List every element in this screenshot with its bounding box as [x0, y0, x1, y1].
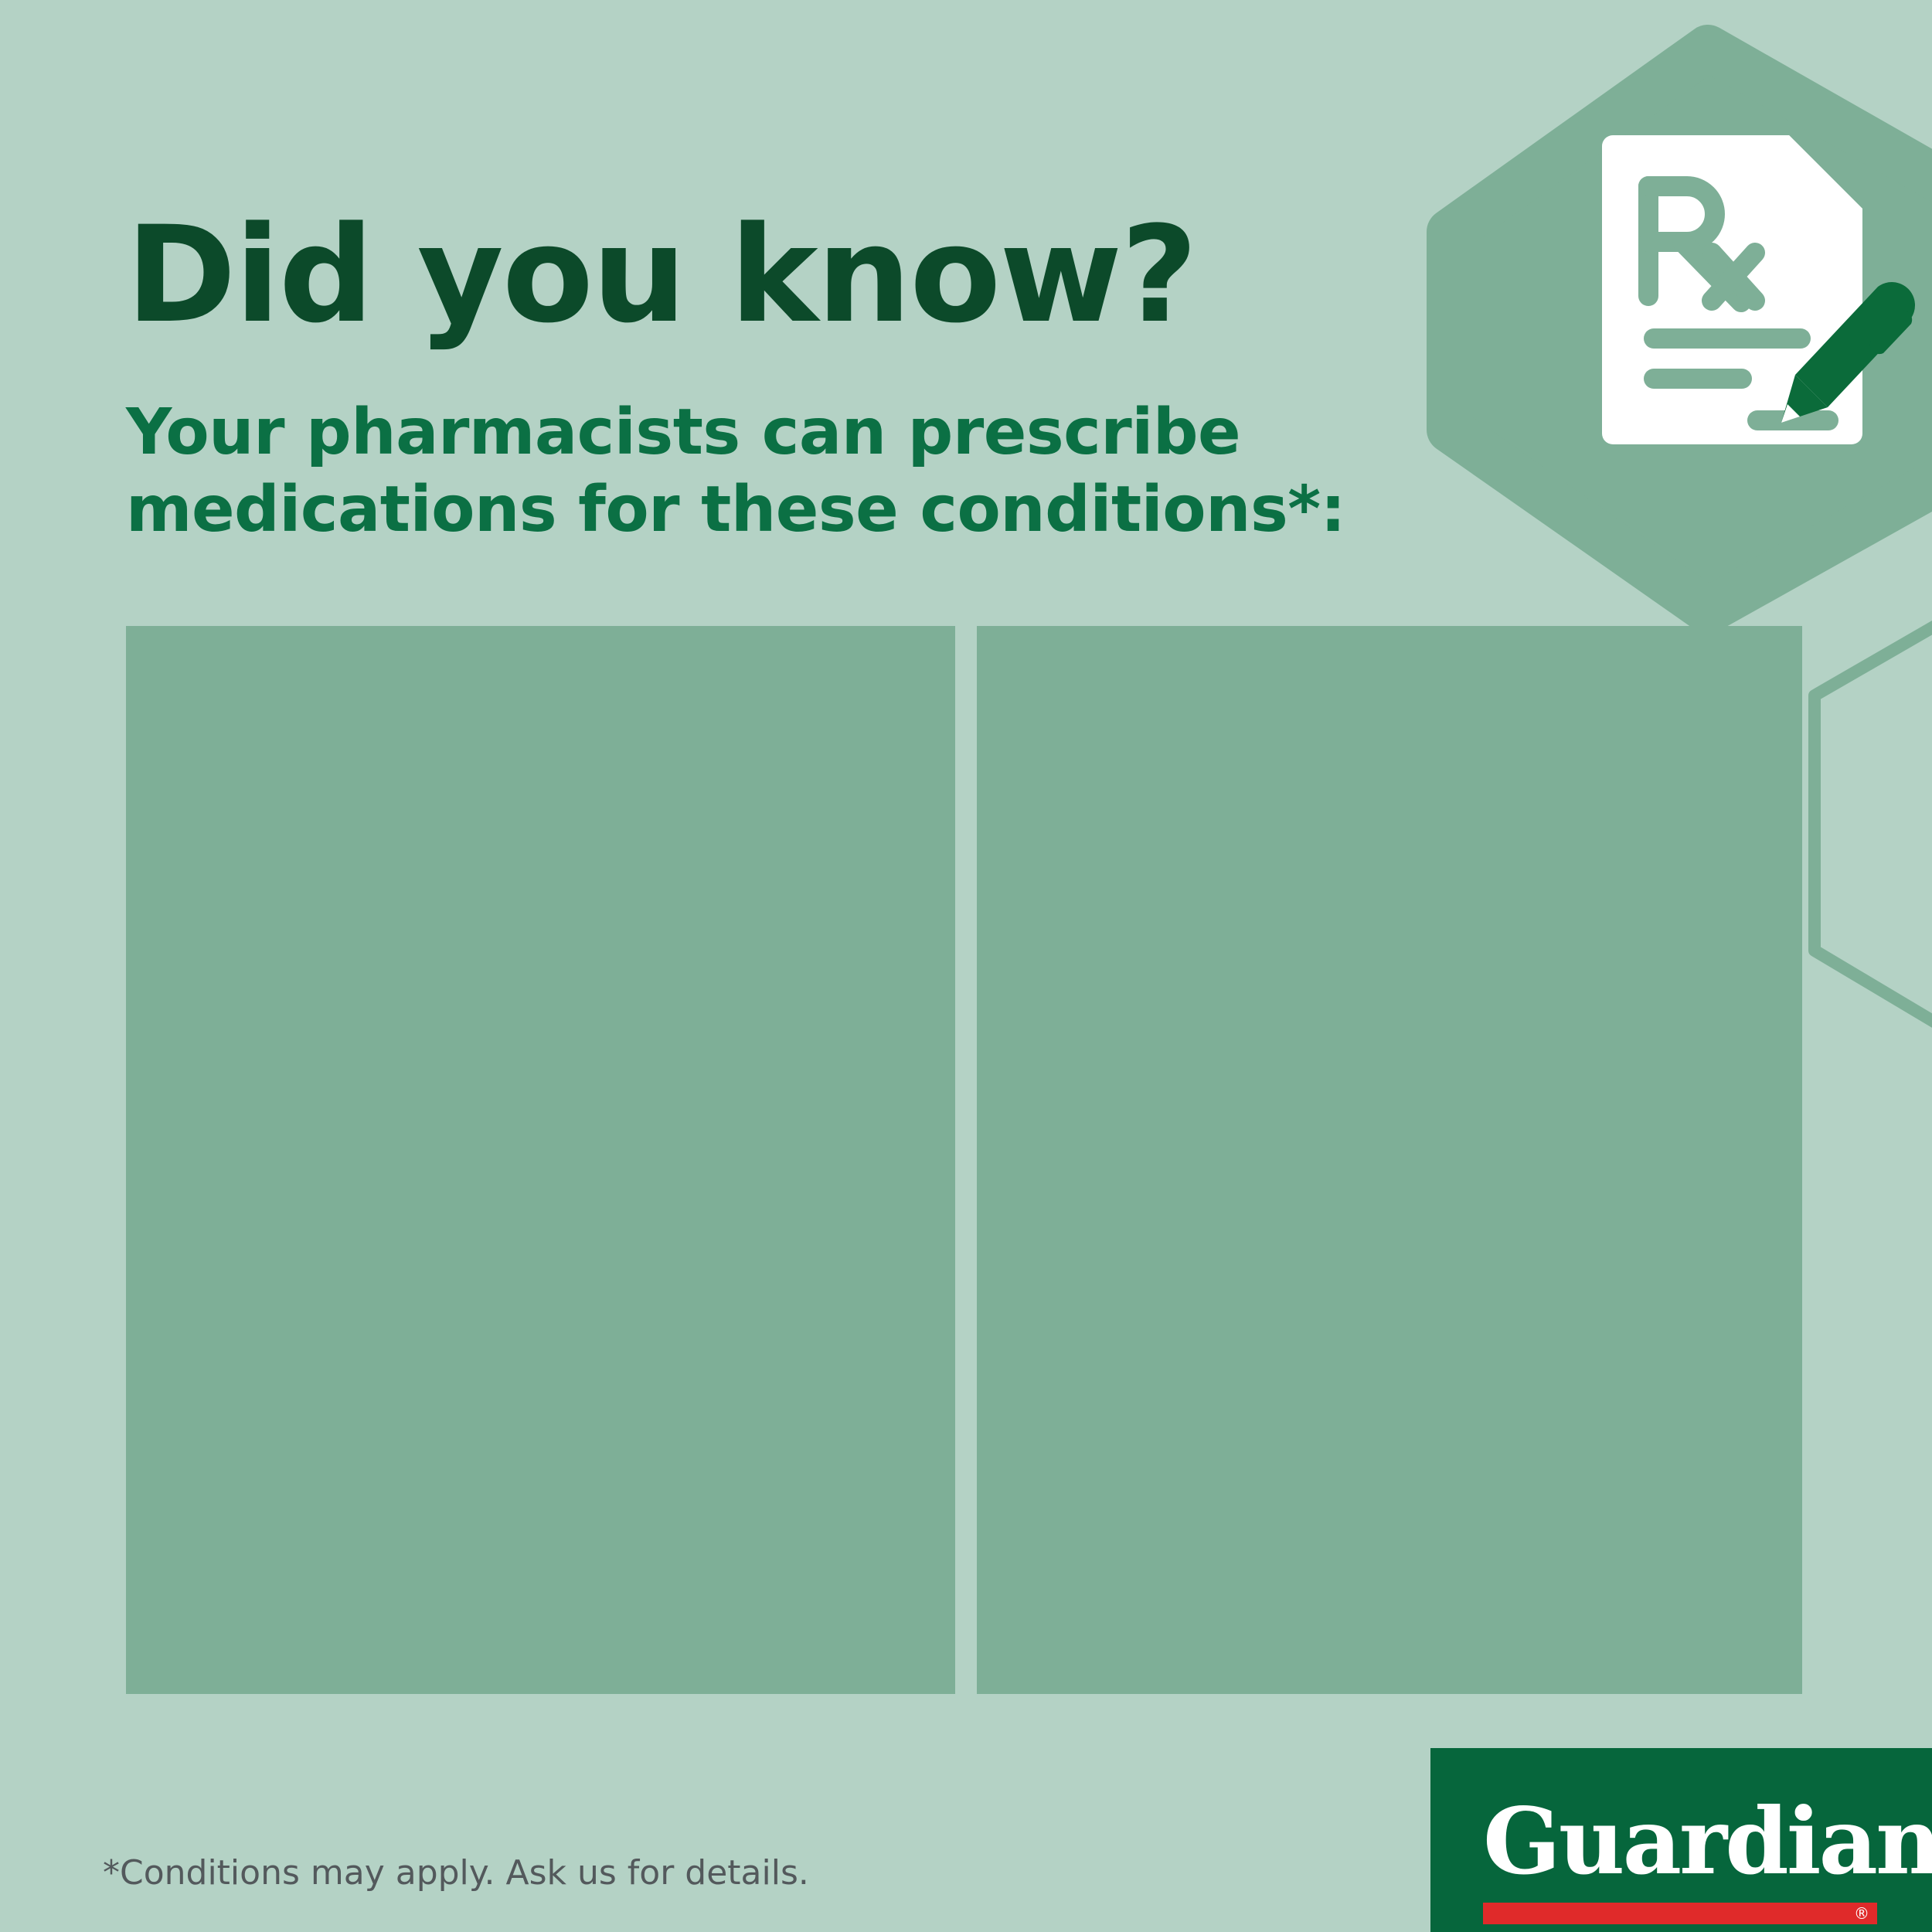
guardian-logo-block: Guardian ®: [1430, 1748, 1932, 1932]
conditions-column-right: [977, 626, 1802, 1694]
conditions-column-right-content: [977, 626, 1802, 1694]
page-subtitle-line-1: Your pharmacists can prescribe: [126, 394, 1285, 471]
page-title: Did you know?: [126, 205, 1362, 345]
registered-trademark-icon: ®: [1854, 1904, 1869, 1923]
page-subtitle-line-2: medications for these conditions*:: [126, 471, 1285, 549]
poster-canvas: Did you know? Your pharmacists can presc…: [0, 0, 1932, 1932]
guardian-red-rule: ®: [1483, 1903, 1877, 1924]
conditions-column-left: [126, 626, 955, 1694]
conditions-column-left-content: [126, 626, 955, 1694]
rx-prescription-document-icon: [1596, 135, 1920, 444]
disclaimer-footnote: *Conditions may apply. Ask us for detail…: [103, 1853, 809, 1893]
guardian-wordmark: Guardian: [1483, 1796, 1932, 1887]
page-subtitle: Your pharmacists can prescribe medicatio…: [126, 394, 1285, 549]
document-folded-corner: [1789, 135, 1862, 209]
hexagon-outline-decoration: [1815, 572, 1932, 1078]
